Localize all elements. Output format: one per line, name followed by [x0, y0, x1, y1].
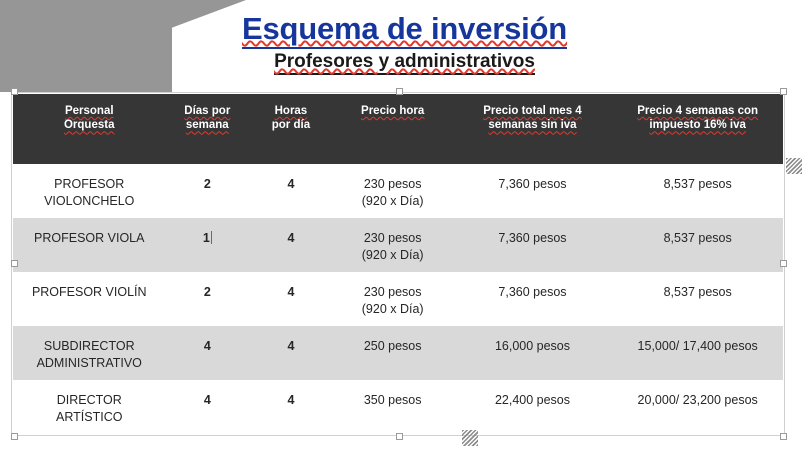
cell-dias-value: 4 [204, 393, 211, 407]
cell-horas-value: 4 [287, 339, 294, 353]
cell-precio-hora-line1: 250 pesos [339, 338, 447, 355]
column-header-dias-line1: Días por [169, 104, 245, 118]
table-row[interactable]: PROFESOR VIOLA 1 4 230 pesos (920 x Día)… [13, 218, 783, 272]
resize-grip-right-icon[interactable] [786, 158, 802, 174]
cell-dias[interactable]: 4 [165, 380, 249, 434]
cell-horas-value: 4 [287, 393, 294, 407]
column-header-precio-total-line2: semanas sin iva [457, 118, 609, 132]
column-header-precio-hora-line1: Precio hora [337, 104, 449, 118]
cell-dias-value: 4 [204, 339, 211, 353]
table-body: PROFESOR VIOLONCHELO 2 4 230 pesos (920 … [13, 164, 783, 434]
schedule-table[interactable]: Personal Orquesta Días por semana Horas … [13, 94, 783, 434]
column-header-horas-line2: por día [253, 118, 329, 132]
cell-precio-hora[interactable]: 250 pesos [333, 326, 453, 380]
column-header-personal-line1: Personal [17, 104, 161, 118]
cell-precio-hora-line2: (920 x Día) [339, 301, 447, 318]
column-header-precio-total[interactable]: Precio total mes 4 semanas sin iva [453, 94, 613, 164]
resize-handle-top-center[interactable] [396, 88, 403, 95]
column-header-personal-line2: Orquesta [17, 118, 161, 132]
cell-dias[interactable]: 1 [165, 218, 249, 272]
cell-precio-hora-line1: 230 pesos [339, 176, 447, 193]
cell-horas-value: 4 [287, 177, 294, 191]
cell-dias[interactable]: 2 [165, 164, 249, 218]
table-header: Personal Orquesta Días por semana Horas … [13, 94, 783, 164]
cell-precio-hora-line1: 230 pesos [339, 284, 447, 301]
resize-handle-top-left[interactable] [11, 88, 18, 95]
cell-precio-hora[interactable]: 350 pesos [333, 380, 453, 434]
column-header-dias[interactable]: Días por semana [165, 94, 249, 164]
cell-horas[interactable]: 4 [249, 380, 333, 434]
table-row[interactable]: SUBDIRECTOR ADMINISTRATIVO 4 4 250 pesos… [13, 326, 783, 380]
column-header-precio-hora[interactable]: Precio hora [333, 94, 453, 164]
cell-horas[interactable]: 4 [249, 218, 333, 272]
cell-personal-line1: SUBDIRECTOR [19, 338, 159, 355]
cell-horas-value: 4 [287, 231, 294, 245]
cell-dias-value: 1 [203, 231, 210, 245]
text-cursor-caret [211, 231, 212, 244]
resize-handle-middle-left[interactable] [11, 260, 18, 267]
cell-personal-line2: ADMINISTRATIVO [19, 355, 159, 372]
cell-personal-line1: PROFESOR VIOLÍN [19, 284, 159, 301]
cell-personal[interactable]: PROFESOR VIOLA [13, 218, 165, 272]
cell-personal-line1: DIRECTOR [19, 392, 159, 409]
cell-precio-iva[interactable]: 15,000/ 17,400 pesos [612, 326, 783, 380]
cell-personal[interactable]: PROFESOR VIOLONCHELO [13, 164, 165, 218]
cell-horas[interactable]: 4 [249, 326, 333, 380]
cell-precio-hora[interactable]: 230 pesos (920 x Día) [333, 272, 453, 326]
schedule-table-container[interactable]: Personal Orquesta Días por semana Horas … [13, 94, 783, 434]
cell-precio-hora-line2: (920 x Día) [339, 247, 447, 264]
cell-dias-value: 2 [204, 177, 211, 191]
cell-dias[interactable]: 2 [165, 272, 249, 326]
page-title-text: Esquema de inversión [242, 11, 567, 46]
cell-precio-total[interactable]: 7,360 pesos [453, 272, 613, 326]
cell-precio-iva[interactable]: 8,537 pesos [612, 272, 783, 326]
resize-handle-top-right[interactable] [780, 88, 787, 95]
resize-handle-bottom-center[interactable] [396, 433, 403, 440]
column-header-precio-iva-line2: impuesto 16% iva [616, 118, 779, 132]
cell-precio-total[interactable]: 22,400 pesos [453, 380, 613, 434]
table-row[interactable]: PROFESOR VIOLONCHELO 2 4 230 pesos (920 … [13, 164, 783, 218]
column-header-dias-line2: semana [169, 118, 245, 132]
cell-dias-value: 2 [204, 285, 211, 299]
table-row[interactable]: PROFESOR VIOLÍN 2 4 230 pesos (920 x Día… [13, 272, 783, 326]
cell-precio-total[interactable]: 16,000 pesos [453, 326, 613, 380]
cell-personal[interactable]: PROFESOR VIOLÍN [13, 272, 165, 326]
cell-horas[interactable]: 4 [249, 164, 333, 218]
cell-personal-line2: VIOLONCHELO [19, 193, 159, 210]
cell-precio-total[interactable]: 7,360 pesos [453, 164, 613, 218]
cell-personal[interactable]: DIRECTOR ARTÍSTICO [13, 380, 165, 434]
cell-precio-hora-line1: 350 pesos [339, 392, 447, 409]
resize-handle-bottom-right[interactable] [780, 433, 787, 440]
column-header-personal[interactable]: Personal Orquesta [13, 94, 165, 164]
cell-horas[interactable]: 4 [249, 272, 333, 326]
cell-precio-iva[interactable]: 8,537 pesos [612, 164, 783, 218]
column-header-precio-total-line1: Precio total mes 4 [457, 104, 609, 118]
column-header-precio-iva-line1: Precio 4 semanas con [616, 104, 779, 118]
table-header-row: Personal Orquesta Días por semana Horas … [13, 94, 783, 164]
cell-precio-hora[interactable]: 230 pesos (920 x Día) [333, 218, 453, 272]
cell-personal-line1: PROFESOR [19, 176, 159, 193]
cell-dias[interactable]: 4 [165, 326, 249, 380]
page-subtitle-text: Profesores y administrativos [274, 51, 535, 72]
cell-precio-iva[interactable]: 8,537 pesos [612, 218, 783, 272]
page-title[interactable]: Esquema de inversión [0, 12, 809, 46]
cell-precio-total[interactable]: 7,360 pesos [453, 218, 613, 272]
page-subtitle[interactable]: Profesores y administrativos [0, 52, 809, 73]
cell-precio-hora-line1: 230 pesos [339, 230, 447, 247]
cell-precio-iva[interactable]: 20,000/ 23,200 pesos [612, 380, 783, 434]
slide-canvas: Esquema de inversión Profesores y admini… [0, 0, 809, 450]
cell-personal[interactable]: SUBDIRECTOR ADMINISTRATIVO [13, 326, 165, 380]
column-header-precio-iva[interactable]: Precio 4 semanas con impuesto 16% iva [612, 94, 783, 164]
resize-handle-middle-right[interactable] [780, 260, 787, 267]
cell-precio-hora[interactable]: 230 pesos (920 x Día) [333, 164, 453, 218]
cell-personal-line2: ARTÍSTICO [19, 409, 159, 426]
cell-horas-value: 4 [287, 285, 294, 299]
table-row[interactable]: DIRECTOR ARTÍSTICO 4 4 350 pesos 22,400 … [13, 380, 783, 434]
title-area: Esquema de inversión Profesores y admini… [0, 0, 809, 92]
resize-handle-bottom-left[interactable] [11, 433, 18, 440]
cell-precio-hora-line2: (920 x Día) [339, 193, 447, 210]
cell-personal-line1: PROFESOR VIOLA [19, 230, 159, 247]
column-header-horas[interactable]: Horas por día [249, 94, 333, 164]
column-header-horas-line1: Horas [253, 104, 329, 118]
